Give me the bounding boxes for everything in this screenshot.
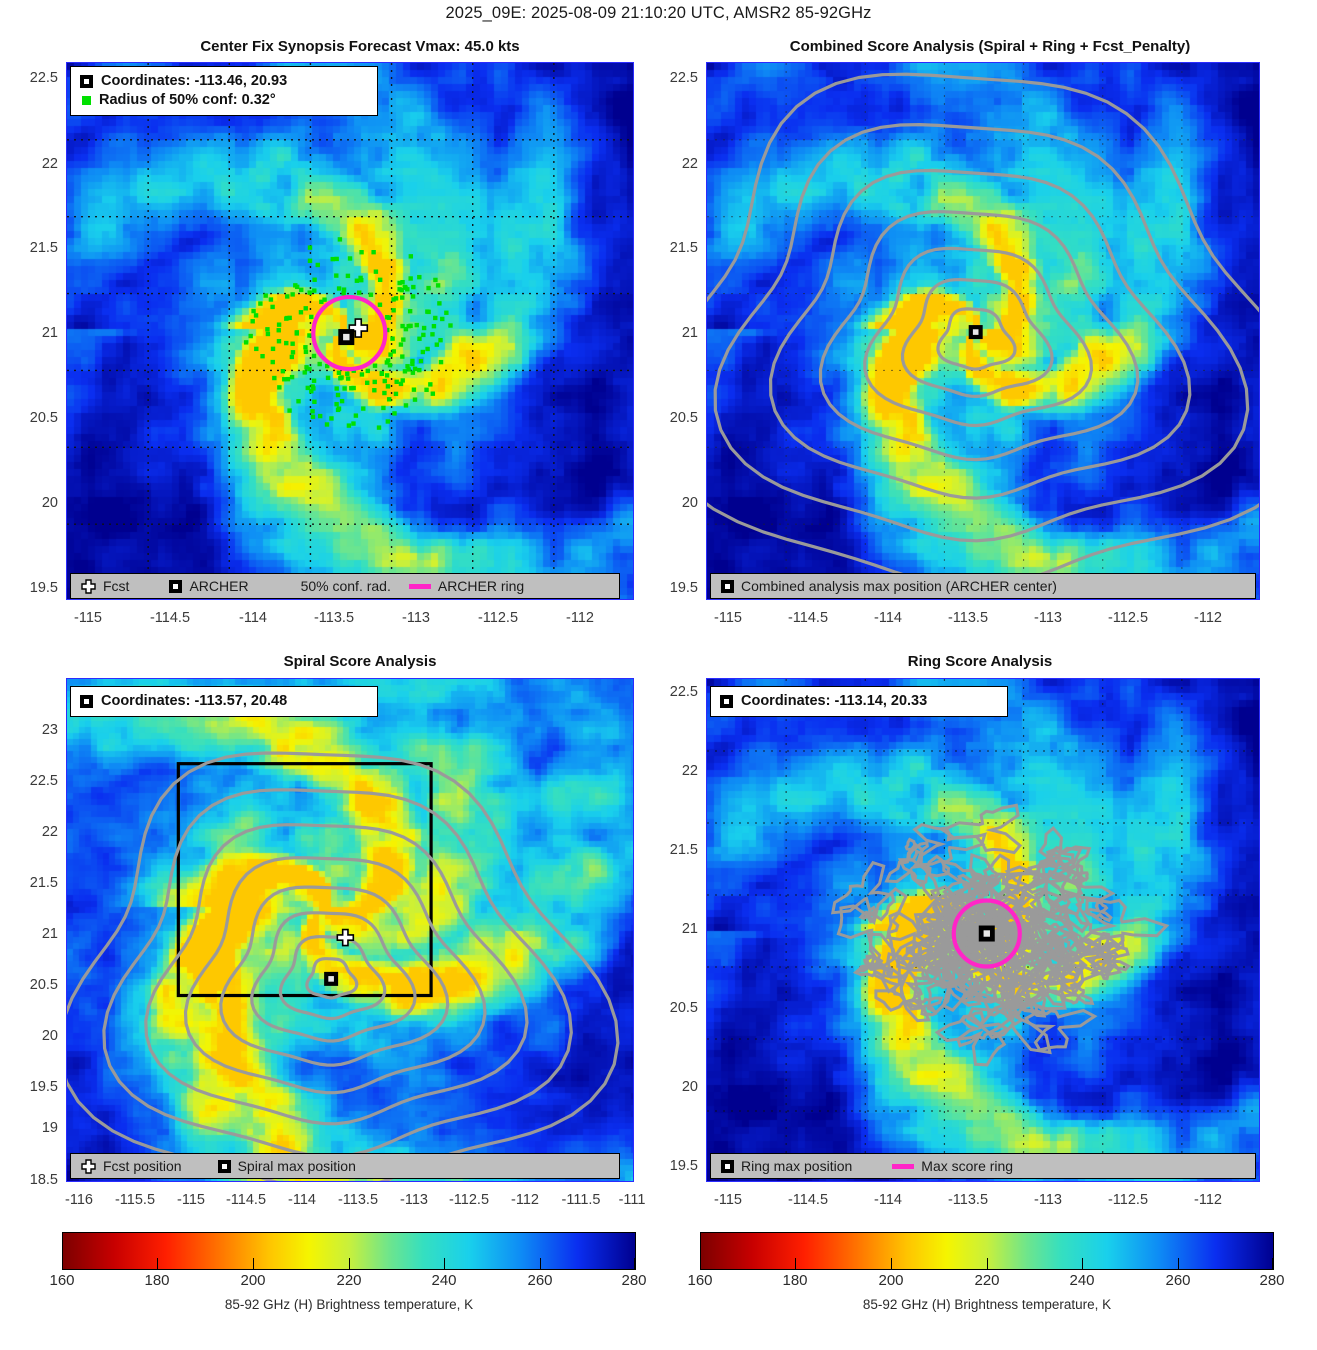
legend-label: Fcst position [103, 1158, 182, 1174]
satellite-imagery-spiral [67, 679, 634, 1182]
colorbar-tick-label: 240 [414, 1272, 474, 1289]
square-marker-icon [80, 75, 93, 88]
square-marker-icon [80, 695, 93, 708]
ytick-label: 21.5 [0, 875, 58, 891]
panel-title-center-fix: Center Fix Synopsis Forecast Vmax: 45.0 … [60, 38, 660, 55]
xtick-label: -114 [213, 610, 293, 626]
bottom-legend-ring: Ring max position Max score ring [710, 1153, 1256, 1179]
xtick-label: -112 [494, 1192, 556, 1208]
ytick-label: 22 [640, 156, 698, 172]
colorbar-tick-label: 180 [765, 1272, 825, 1289]
ytick-label: 21.5 [640, 842, 698, 858]
square-marker-icon [169, 580, 182, 593]
legend-item-archer-ring: ARCHER ring [409, 578, 524, 594]
ytick-label: 20 [0, 1028, 58, 1044]
legend-label: Spiral max position [238, 1158, 356, 1174]
colorbar-caption-right: 85-92 GHz (H) Brightness temperature, K [700, 1297, 1274, 1312]
colorbar-tick-label: 280 [1242, 1272, 1302, 1289]
xtick-label: -114.5 [130, 610, 210, 626]
colorbar-tick-label: 260 [1148, 1272, 1208, 1289]
legend-label: Combined analysis max position (ARCHER c… [741, 578, 1057, 594]
legend-label: Coordinates: -113.14, 20.33 [741, 692, 927, 711]
bottom-legend-center-fix: Fcst ARCHER 50% conf. rad. ARCHER ring [70, 573, 620, 599]
ytick-label: 21 [640, 921, 698, 937]
legend-item-archer: ARCHER [169, 578, 248, 594]
bottom-legend-combined: Combined analysis max position (ARCHER c… [710, 573, 1256, 599]
plot-area-ring[interactable] [706, 678, 1260, 1182]
cross-marker-icon [81, 1159, 96, 1174]
legend-label: Coordinates: -113.57, 20.48 [101, 692, 287, 711]
ytick-label: 22.5 [640, 70, 698, 86]
colorbar-tick-label: 180 [127, 1272, 187, 1289]
legend-label: Radius of 50% conf: 0.32° [99, 91, 276, 110]
legend-row: Radius of 50% conf: 0.32° [80, 91, 368, 110]
ytick-label: 19.5 [0, 1079, 58, 1095]
ytick-label: 22.5 [640, 684, 698, 700]
ytick-label: 20.5 [640, 1000, 698, 1016]
legend-item-max-score-ring: Max score ring [892, 1158, 1013, 1174]
ytick-label: 23 [0, 722, 58, 738]
xtick-label: -112.5 [458, 610, 538, 626]
legend-row: Coordinates: -113.14, 20.33 [720, 692, 998, 711]
legend-item-conf-rad: 50% conf. rad. [301, 578, 391, 594]
xtick-label: -113 [1008, 610, 1088, 626]
colorbar-tick-label: 220 [957, 1272, 1017, 1289]
ytick-label: 20 [640, 495, 698, 511]
xtick-label: -114 [271, 1192, 333, 1208]
square-marker-icon [721, 580, 734, 593]
xtick-label: -115 [688, 610, 768, 626]
legend-item-ring-max: Ring max position [721, 1158, 852, 1174]
xtick-label: -114.5 [768, 1192, 848, 1208]
xtick-label: -112.5 [1088, 610, 1168, 626]
legend-label: Coordinates: -113.46, 20.93 [101, 72, 287, 91]
ytick-label: 22.5 [0, 773, 58, 789]
ytick-label: 20.5 [640, 410, 698, 426]
legend-row: Coordinates: -113.46, 20.93 [80, 72, 368, 91]
square-marker-icon [720, 695, 733, 708]
colorbar-tick-label: 240 [1052, 1272, 1112, 1289]
xtick-label: -116 [48, 1192, 110, 1208]
xtick-label: -115.5 [104, 1192, 166, 1208]
square-marker-icon [218, 1160, 231, 1173]
colorbar-tick-label: 160 [670, 1272, 730, 1289]
colorbar-tick-label: 160 [32, 1272, 92, 1289]
xtick-label: -112 [1168, 610, 1248, 626]
colorbar-caption-left: 85-92 GHz (H) Brightness temperature, K [62, 1297, 636, 1312]
xtick-label: -113.5 [327, 1192, 389, 1208]
xtick-label: -114.5 [768, 610, 848, 626]
plot-area-center-fix[interactable] [66, 62, 634, 600]
ytick-label: 21 [0, 926, 58, 942]
legend-row: Coordinates: -113.57, 20.48 [80, 692, 368, 711]
xtick-label: -112 [540, 610, 620, 626]
green-square-icon [82, 96, 91, 105]
ytick-label: 21 [0, 325, 58, 341]
xtick-label: -113.5 [294, 610, 374, 626]
info-legend-center-fix: Coordinates: -113.46, 20.93 Radius of 50… [70, 66, 378, 116]
legend-item-fcst: Fcst [81, 578, 129, 594]
magenta-line-icon [409, 584, 431, 589]
ytick-label: 22 [0, 156, 58, 172]
ytick-label: 21.5 [640, 240, 698, 256]
colorbar-tick-label: 280 [604, 1272, 664, 1289]
xtick-label: -112.5 [438, 1192, 500, 1208]
satellite-imagery-center-fix [67, 63, 634, 600]
ytick-label: 19.5 [0, 580, 58, 596]
legend-item-combined-max: Combined analysis max position (ARCHER c… [721, 578, 1057, 594]
xtick-label: -115 [48, 610, 128, 626]
legend-label: 50% conf. rad. [301, 578, 391, 594]
legend-label: Fcst [103, 578, 129, 594]
plot-area-spiral[interactable] [66, 678, 634, 1182]
ytick-label: 20 [640, 1079, 698, 1095]
info-legend-ring: Coordinates: -113.14, 20.33 [710, 686, 1008, 717]
plot-area-combined[interactable] [706, 62, 1260, 600]
panel-title-spiral: Spiral Score Analysis [60, 653, 660, 670]
colorbar-tick-label: 260 [510, 1272, 570, 1289]
xtick-label: -113.5 [928, 1192, 1008, 1208]
panel-title-combined: Combined Score Analysis (Spiral + Ring +… [690, 38, 1290, 55]
ytick-label: 21.5 [0, 240, 58, 256]
xtick-label: -112 [1168, 1192, 1248, 1208]
xtick-label: -113 [376, 610, 456, 626]
legend-label: Ring max position [741, 1158, 852, 1174]
xtick-label: -114.5 [215, 1192, 277, 1208]
panel-title-ring: Ring Score Analysis [690, 653, 1270, 670]
ytick-label: 20 [0, 495, 58, 511]
xtick-label: -115 [160, 1192, 222, 1208]
cross-marker-icon [81, 579, 96, 594]
legend-label: Max score ring [921, 1158, 1013, 1174]
magenta-line-icon [892, 1164, 914, 1169]
xtick-label: -113.5 [928, 610, 1008, 626]
ytick-label: 20.5 [0, 410, 58, 426]
square-marker-icon [721, 1160, 734, 1173]
legend-item-spiral-max: Spiral max position [218, 1158, 356, 1174]
ytick-label: 20.5 [0, 977, 58, 993]
ytick-label: 22 [0, 824, 58, 840]
satellite-imagery-ring [707, 679, 1260, 1182]
legend-label: ARCHER ring [438, 578, 524, 594]
xtick-label: -111 [601, 1192, 663, 1208]
ytick-label: 22 [640, 763, 698, 779]
legend-item-fcst-position: Fcst position [81, 1158, 182, 1174]
satellite-imagery-combined [707, 63, 1260, 600]
ytick-label: 18.5 [0, 1172, 58, 1188]
bottom-legend-spiral: Fcst position Spiral max position [70, 1153, 620, 1179]
figure-title: 2025_09E: 2025-08-09 21:10:20 UTC, AMSR2… [0, 4, 1317, 23]
legend-label: ARCHER [189, 578, 248, 594]
ytick-label: 19 [0, 1120, 58, 1136]
xtick-label: -113 [383, 1192, 445, 1208]
colorbar-tick-label: 200 [861, 1272, 921, 1289]
xtick-label: -114 [848, 610, 928, 626]
xtick-label: -115 [688, 1192, 768, 1208]
ytick-label: 22.5 [0, 70, 58, 86]
colorbar-tick-label: 220 [319, 1272, 379, 1289]
xtick-label: -114 [848, 1192, 928, 1208]
info-legend-spiral: Coordinates: -113.57, 20.48 [70, 686, 378, 717]
ytick-label: 19.5 [640, 1158, 698, 1174]
ytick-label: 19.5 [640, 580, 698, 596]
colorbar-tick-label: 200 [223, 1272, 283, 1289]
ytick-label: 21 [640, 325, 698, 341]
xtick-label: -112.5 [1088, 1192, 1168, 1208]
xtick-label: -113 [1008, 1192, 1088, 1208]
